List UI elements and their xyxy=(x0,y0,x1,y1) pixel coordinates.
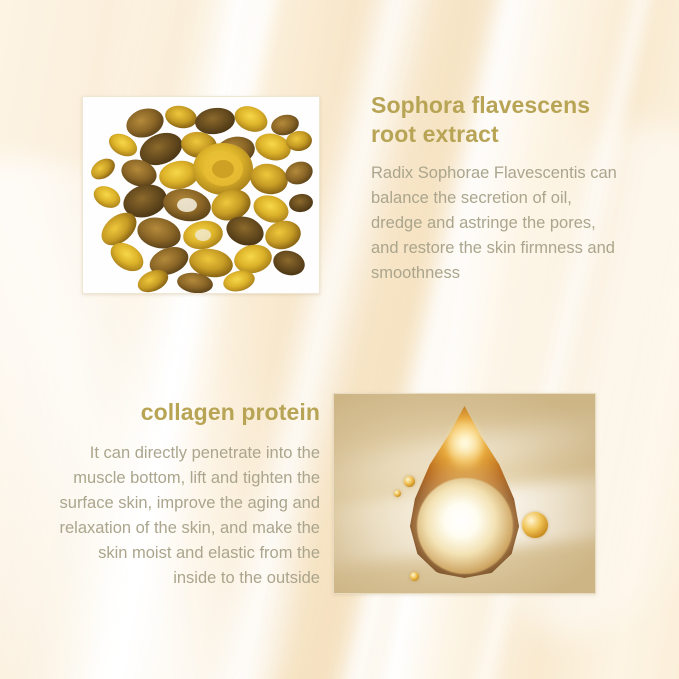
golden-serum-droplet-photo xyxy=(333,393,596,594)
sophora-heading: Sophora flavescens root extract xyxy=(371,91,617,149)
serum-droplet-glow-core xyxy=(417,478,513,574)
collagen-body-text: It can directly penetrate into the muscl… xyxy=(52,441,320,591)
collagen-text-block: collagen protein It can directly penetra… xyxy=(52,398,320,591)
poster-canvas: Sophora flavescens root extract Radix So… xyxy=(0,0,679,679)
serum-bubble-small-left xyxy=(404,476,415,487)
serum-bubble-bottom xyxy=(410,572,419,581)
collagen-heading: collagen protein xyxy=(52,398,320,427)
serum-bubble-large xyxy=(522,512,548,538)
sophora-text-block: Sophora flavescens root extract Radix So… xyxy=(371,91,617,286)
herb-slices-illustration xyxy=(83,97,319,293)
herb-photo-canvas xyxy=(83,97,319,293)
serum-bubble-tiny-left xyxy=(394,490,401,497)
serum-droplet-top-highlight xyxy=(448,416,482,472)
sophora-root-slices-photo xyxy=(82,96,320,294)
sophora-body-text: Radix Sophorae Flavescentis can balance … xyxy=(371,161,617,286)
